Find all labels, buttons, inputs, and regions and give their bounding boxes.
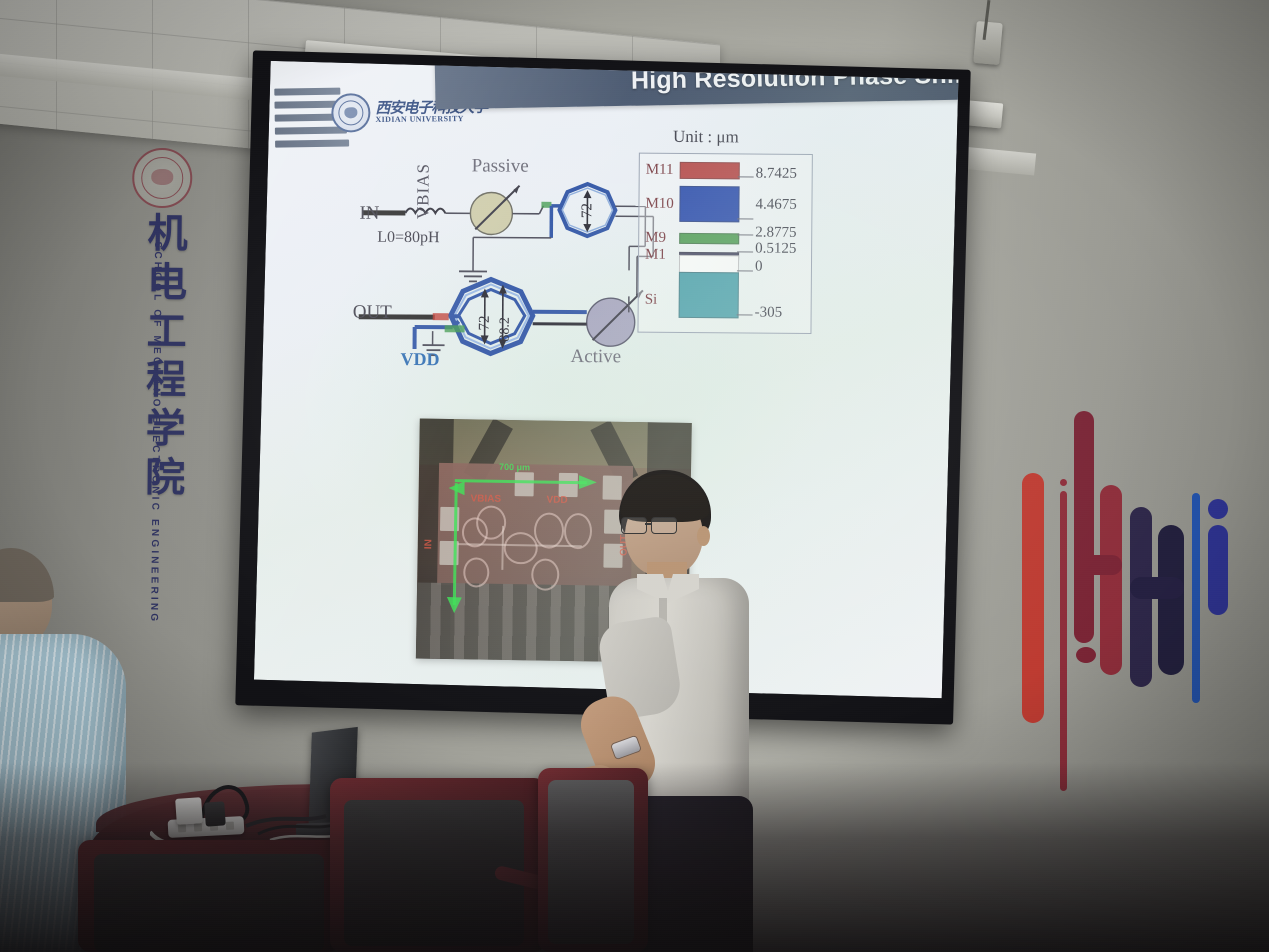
photo-scene: Redleaf 西安电子科技大学 XIDIAN UNIVERSITY (0, 0, 1269, 952)
photo-vignette (0, 0, 1269, 952)
